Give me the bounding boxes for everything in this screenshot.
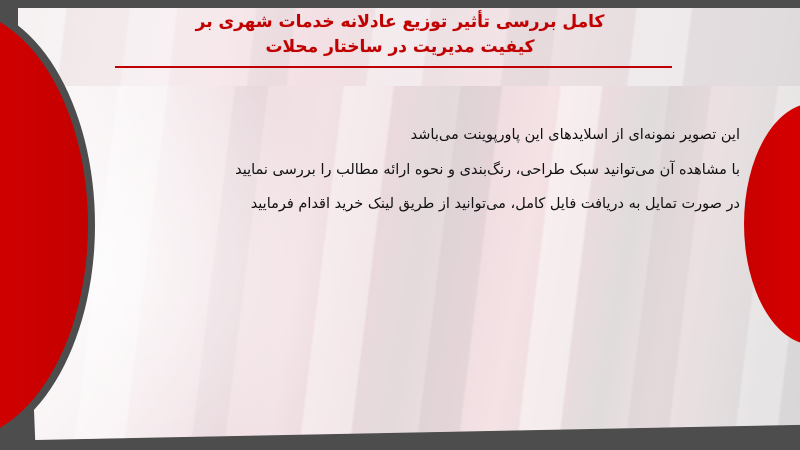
title-line-2: کیفیت مدیریت در ساختار محلات — [40, 35, 760, 60]
body-line-3: در صورت تمایل به دریافت فایل کامل، می‌تو… — [100, 187, 740, 222]
title-underline-rule — [115, 66, 672, 68]
body-line-2: با مشاهده آن می‌توانید سبک طراحی، رنگ‌بن… — [100, 153, 740, 188]
slide-body-text: این تصویر نمونه‌ای از اسلایدهای این پاور… — [100, 118, 740, 222]
presentation-slide: کامل بررسی تأثیر توزیع عادلانه خدمات شهر… — [0, 0, 800, 450]
title-line-1: کامل بررسی تأثیر توزیع عادلانه خدمات شهر… — [40, 10, 760, 35]
slide-title: کامل بررسی تأثیر توزیع عادلانه خدمات شهر… — [0, 10, 800, 59]
body-line-1: این تصویر نمونه‌ای از اسلایدهای این پاور… — [100, 118, 740, 153]
